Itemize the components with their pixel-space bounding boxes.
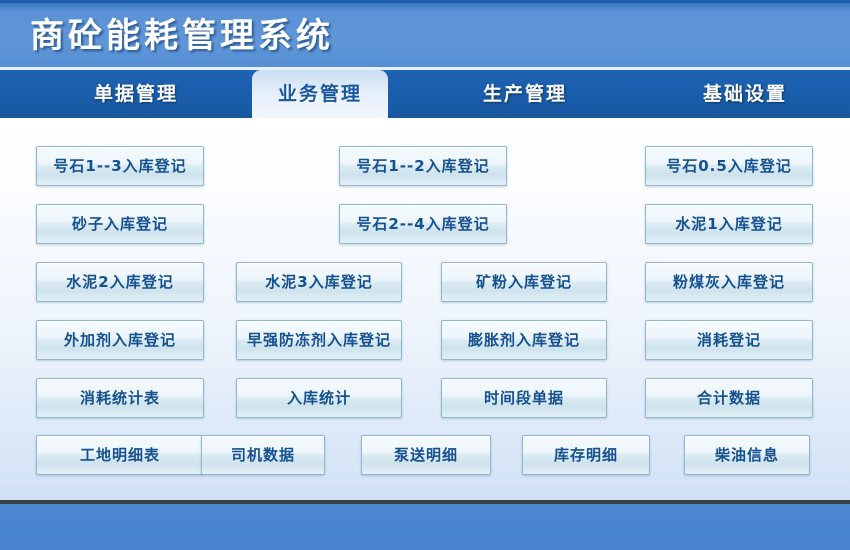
- menu-button-r5c2[interactable]: 入库统计: [236, 378, 402, 418]
- menu-button-r5c1[interactable]: 消耗统计表: [36, 378, 204, 418]
- menu-button-r3c3[interactable]: 矿粉入库登记: [441, 262, 607, 302]
- button-row: 砂子入库登记号石2--4入库登记水泥1入库登记: [0, 204, 850, 246]
- app-title: 商砼能耗管理系统: [30, 11, 334, 61]
- main-tab-bar: 单据管理业务管理生产管理基础设置: [0, 70, 850, 118]
- menu-button-r1c1[interactable]: 号石1--3入库登记: [36, 146, 204, 186]
- footer-bar: [0, 504, 850, 550]
- menu-button-r6c1[interactable]: 工地明细表: [36, 435, 204, 475]
- tab-2[interactable]: 业务管理: [252, 70, 388, 118]
- tab-4[interactable]: 基础设置: [650, 70, 840, 118]
- menu-button-r5c3[interactable]: 时间段单据: [441, 378, 607, 418]
- button-row: 消耗统计表入库统计时间段单据合计数据: [0, 378, 850, 420]
- button-row: 水泥2入库登记水泥3入库登记矿粉入库登记粉煤灰入库登记: [0, 262, 850, 304]
- menu-button-r4c3[interactable]: 膨胀剂入库登记: [441, 320, 607, 360]
- menu-button-r3c4[interactable]: 粉煤灰入库登记: [645, 262, 813, 302]
- button-row: 号石1--3入库登记号石1--2入库登记号石0.5入库登记: [0, 146, 850, 188]
- application-window: 商砼能耗管理系统 单据管理业务管理生产管理基础设置 号石1--3入库登记号石1-…: [0, 0, 850, 550]
- menu-button-r1c2[interactable]: 号石1--2入库登记: [339, 146, 507, 186]
- menu-button-r4c4[interactable]: 消耗登记: [645, 320, 813, 360]
- content-panel: 号石1--3入库登记号石1--2入库登记号石0.5入库登记砂子入库登记号石2--…: [0, 118, 850, 500]
- menu-button-r2c1[interactable]: 砂子入库登记: [36, 204, 204, 244]
- button-row: 外加剂入库登记早强防冻剂入库登记膨胀剂入库登记消耗登记: [0, 320, 850, 362]
- menu-button-r6c3[interactable]: 泵送明细: [361, 435, 491, 475]
- tab-1[interactable]: 单据管理: [36, 70, 236, 118]
- menu-button-r6c5[interactable]: 柴油信息: [684, 435, 810, 475]
- menu-button-r6c2[interactable]: 司机数据: [201, 435, 325, 475]
- menu-button-r6c4[interactable]: 库存明细: [522, 435, 650, 475]
- menu-button-r2c2[interactable]: 号石2--4入库登记: [339, 204, 507, 244]
- menu-button-r3c2[interactable]: 水泥3入库登记: [236, 262, 402, 302]
- menu-button-r4c1[interactable]: 外加剂入库登记: [36, 320, 204, 360]
- menu-button-r5c4[interactable]: 合计数据: [645, 378, 813, 418]
- menu-button-r3c1[interactable]: 水泥2入库登记: [36, 262, 204, 302]
- title-bar: 商砼能耗管理系统: [0, 0, 850, 70]
- menu-button-r2c3[interactable]: 水泥1入库登记: [645, 204, 813, 244]
- menu-button-r1c3[interactable]: 号石0.5入库登记: [645, 146, 813, 186]
- tab-3[interactable]: 生产管理: [430, 70, 620, 118]
- button-row: 工地明细表司机数据泵送明细库存明细柴油信息: [0, 435, 850, 477]
- menu-button-r4c2[interactable]: 早强防冻剂入库登记: [236, 320, 402, 360]
